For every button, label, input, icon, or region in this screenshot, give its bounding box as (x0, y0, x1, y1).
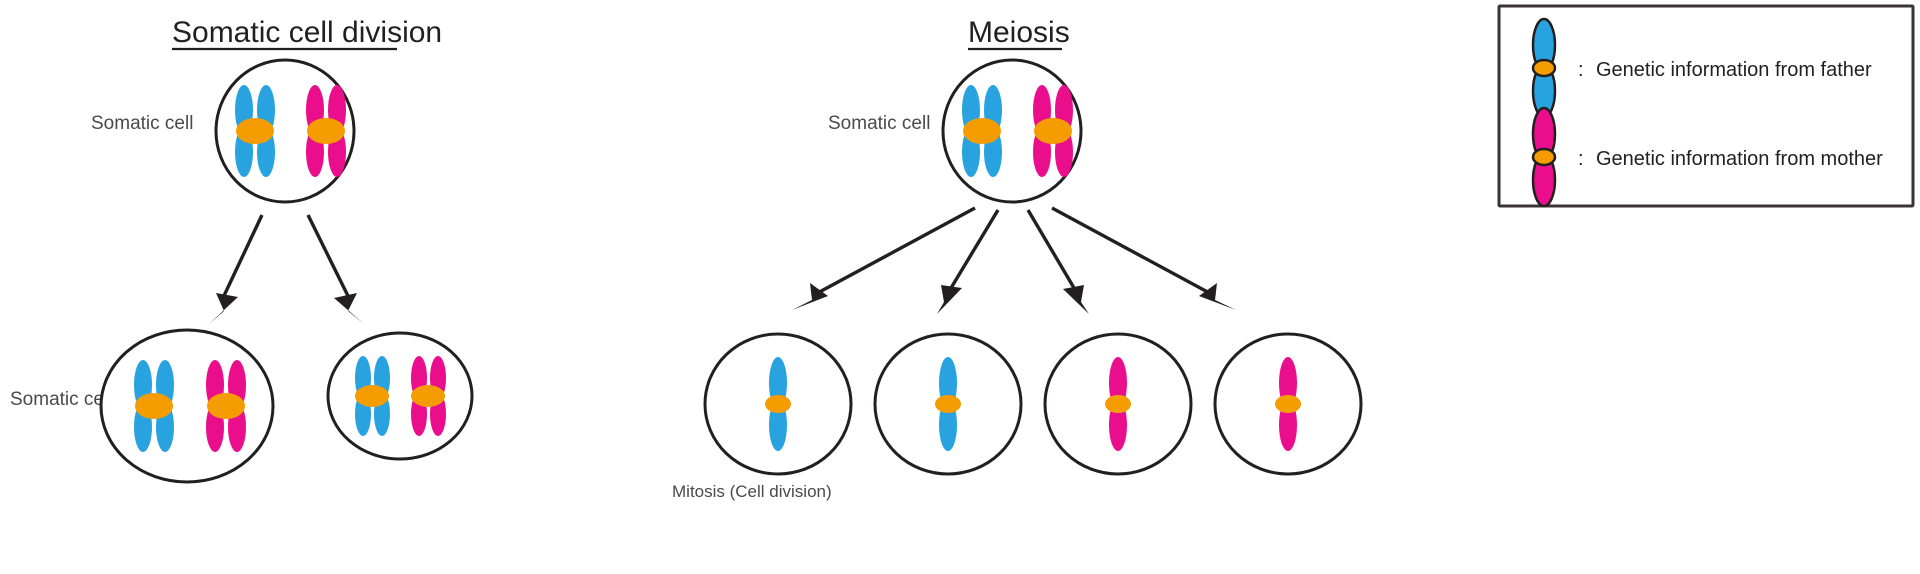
cell-membrane (328, 333, 472, 459)
meiosis-division-arrows (792, 208, 1236, 314)
meiosis-parent-label: Somatic cell (828, 113, 930, 134)
somatic-panel: Somatic cell division Somatic cell (10, 16, 472, 482)
meiosis-daughter-cell-3 (1045, 334, 1191, 474)
diagram-canvas: Somatic cell division Somatic cell (0, 0, 1920, 574)
somatic-daughter-cell-1 (101, 330, 273, 482)
centromere (1275, 395, 1301, 413)
somatic-daughter-cell-2 (328, 333, 472, 459)
legend-label-father: Genetic information from father (1596, 59, 1872, 81)
centromere (1034, 118, 1072, 144)
arrow-down-right (308, 215, 364, 324)
centromere (935, 395, 961, 413)
legend-separator-father: : (1578, 59, 1584, 81)
arrow-to-daughter-3 (1028, 210, 1089, 314)
meiosis-daughter-cell-4 (1215, 334, 1361, 474)
legend-separator-mother: : (1578, 148, 1584, 170)
legend: : Genetic information from father : Gene… (1499, 6, 1913, 206)
centromere (1105, 395, 1131, 413)
meiosis-daughter-cell-1 (705, 334, 851, 474)
centromere (963, 118, 1001, 144)
centromere (1533, 60, 1555, 76)
somatic-panel-title: Somatic cell division (172, 16, 442, 49)
centromere (411, 385, 445, 407)
arrow-to-daughter-2 (937, 210, 998, 314)
arrow-down-left (209, 215, 262, 324)
meiosis-parent-cell (943, 60, 1081, 202)
cell-membrane (101, 330, 273, 482)
somatic-parent-label: Somatic cell (91, 113, 193, 134)
meiosis-daughter-cell-2 (875, 334, 1021, 474)
centromere (1533, 149, 1555, 165)
meiosis-panel-title: Meiosis (968, 16, 1070, 49)
centromere (355, 385, 389, 407)
centromere (236, 118, 274, 144)
meiosis-children-label: Mitosis (Cell division) (672, 482, 832, 501)
somatic-parent-cell (216, 60, 354, 202)
legend-label-mother: Genetic information from mother (1596, 148, 1883, 170)
cell-division-diagram: Somatic cell division Somatic cell (0, 0, 1920, 574)
meiosis-panel: Meiosis Somatic cell (672, 16, 1361, 501)
somatic-division-arrows (209, 215, 364, 324)
centromere (765, 395, 791, 413)
chromosome-blue-icon (1533, 19, 1555, 117)
centromere (207, 393, 245, 419)
centromere (135, 393, 173, 419)
legend-border (1499, 6, 1913, 206)
centromere (307, 118, 345, 144)
chromosome-pink-icon (1533, 108, 1555, 206)
